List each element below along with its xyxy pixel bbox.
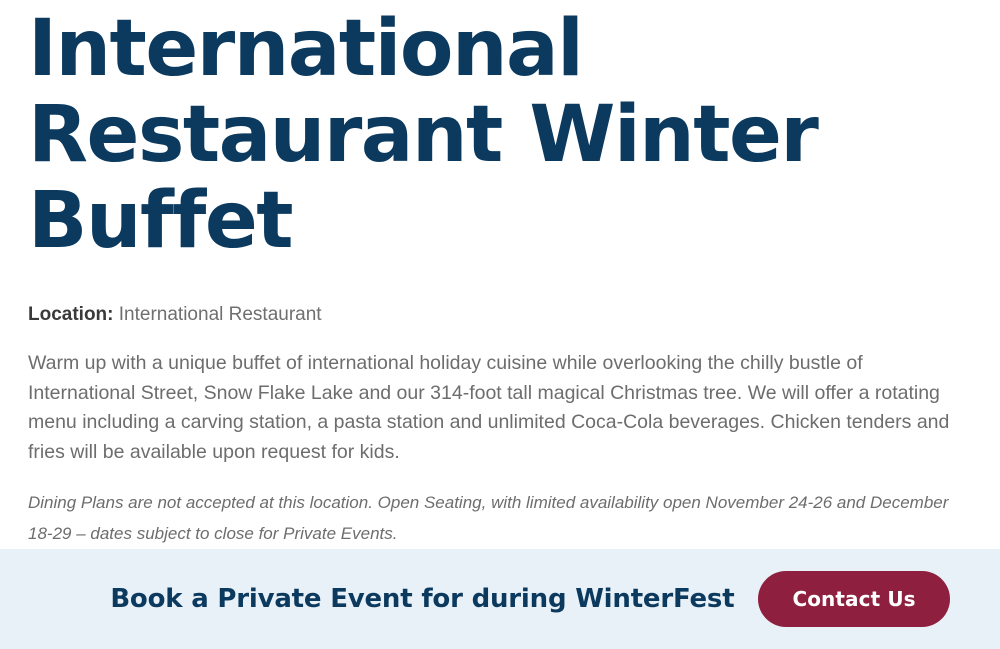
main-content: International Restaurant Winter Buffet L… bbox=[0, 0, 1000, 549]
location-line: Location: International Restaurant bbox=[28, 264, 974, 328]
location-value: International Restaurant bbox=[119, 304, 322, 325]
cta-banner: Book a Private Event for during WinterFe… bbox=[0, 549, 1000, 649]
fine-print-note: Dining Plans are not accepted at this lo… bbox=[28, 467, 974, 549]
location-label: Location: bbox=[28, 304, 114, 325]
cta-heading: Book a Private Event for during WinterFe… bbox=[110, 583, 734, 615]
page-title: International Restaurant Winter Buffet bbox=[28, 0, 928, 264]
page-root: International Restaurant Winter Buffet L… bbox=[0, 0, 1000, 638]
description-paragraph: Warm up with a unique buffet of internat… bbox=[28, 328, 974, 467]
contact-us-button[interactable]: Contact Us bbox=[758, 571, 949, 627]
